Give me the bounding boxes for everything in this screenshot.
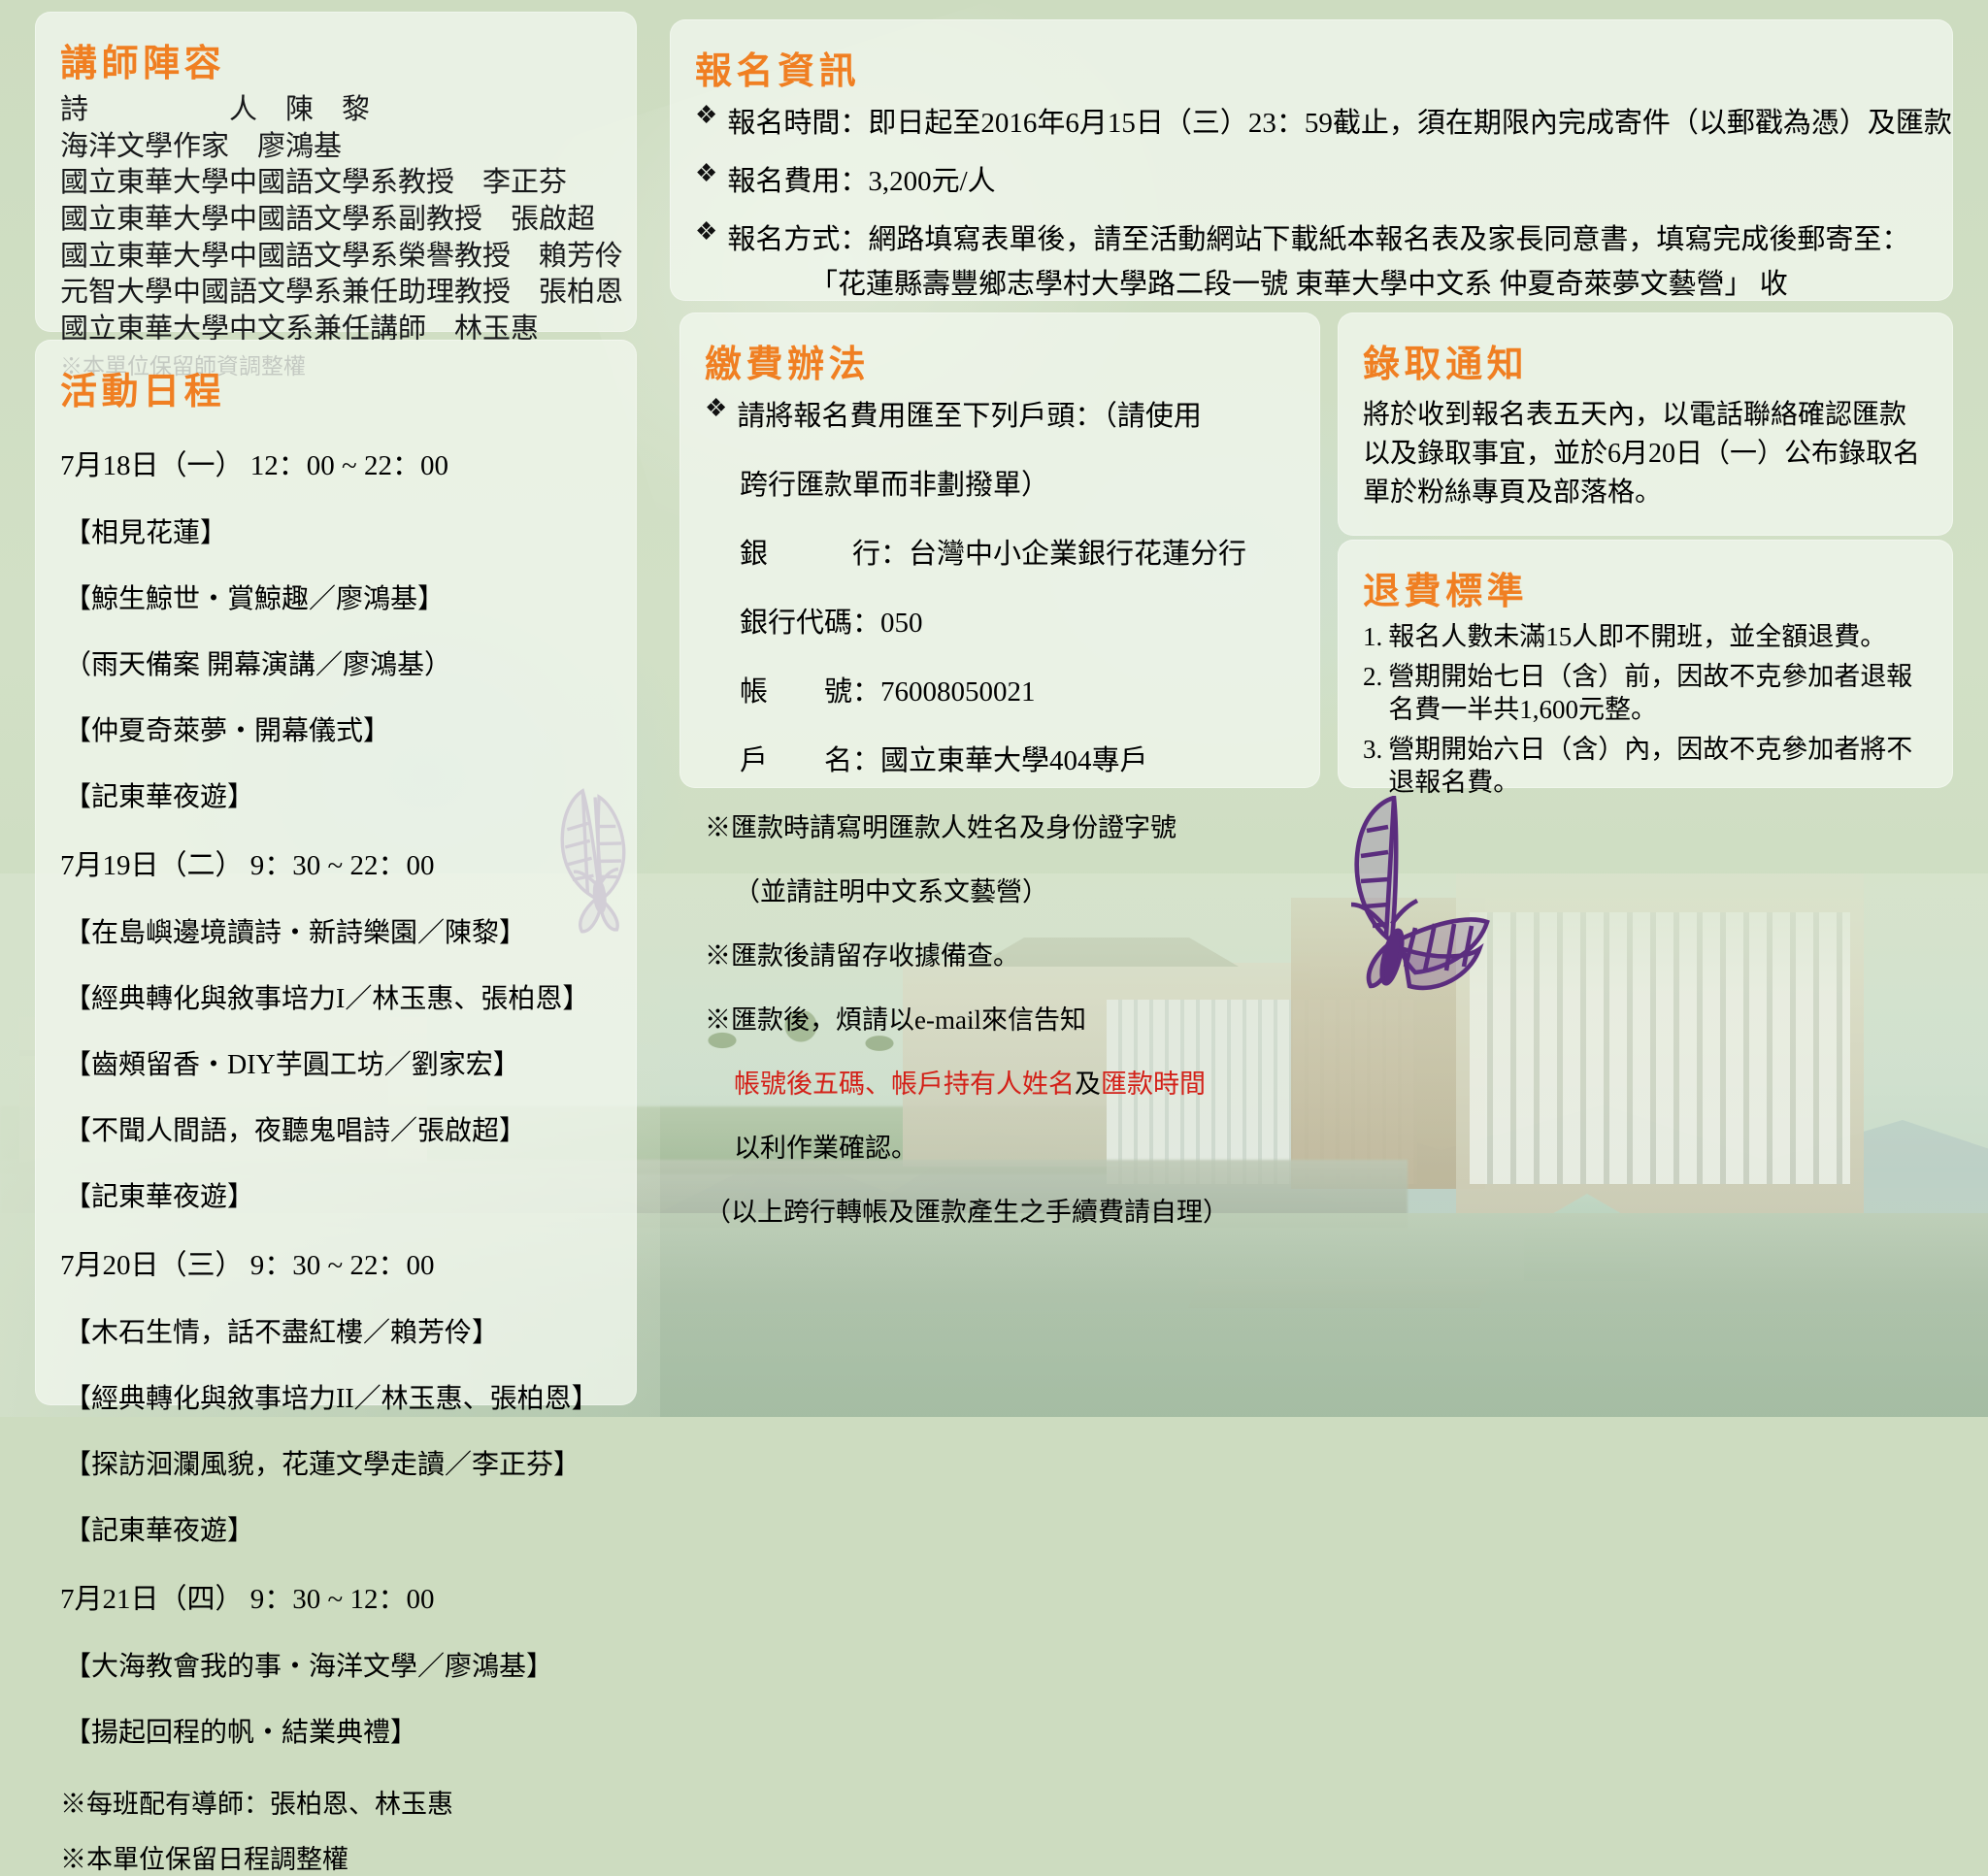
speakers-heading: 講師陣容 bbox=[60, 33, 612, 86]
refund-item-number: 1. bbox=[1363, 620, 1382, 654]
payment-highlight-a: 帳號後五碼、帳戶持有人姓名 bbox=[734, 1070, 1075, 1099]
admission-notice-line: 單於粉絲專頁及部落格。 bbox=[1363, 471, 1928, 510]
admission-notice-line: 以及錄取事宜，並於6月20日（一）公布錄取名 bbox=[1363, 432, 1928, 471]
speaker-row: 詩 人 陳 黎 bbox=[60, 92, 612, 129]
payment-intro-line-2: 跨行匯款單而非劃撥單） bbox=[705, 462, 1295, 503]
payment-note: ※匯款時請寫明匯款人姓名及身份證字號 bbox=[705, 806, 1295, 844]
payment-note: ※匯款後，煩請以e-mail來信告知 bbox=[705, 999, 1295, 1037]
payment-heading: 繳費辦法 bbox=[705, 334, 1295, 387]
schedule-heading: 活動日程 bbox=[60, 361, 612, 414]
refund-policy-item: 2.營期開始七日（含）前，因故不克參加者退報名費一半共1,600元整。 bbox=[1363, 660, 1928, 727]
registration-item: ❖ 報名方式：網路填寫表單後，請至活動網站下載紙本報名表及家長同意書，填寫完成後… bbox=[695, 216, 1928, 257]
payment-account-number: 帳 號：76008050021 bbox=[705, 669, 1295, 709]
schedule-item: 【鯨生鯨世‧賞鯨趣／廖鴻基】 bbox=[60, 577, 612, 616]
payment-bank-code: 銀行代碼：050 bbox=[705, 600, 1295, 641]
payment-highlight-c: 匯款時間 bbox=[1101, 1070, 1206, 1099]
refund-item-text: 報名人數未滿15人即不開班，並全額退費。 bbox=[1388, 620, 1928, 654]
registration-item: ❖ 報名費用：3,200元/人 bbox=[695, 158, 1928, 199]
registration-mail-address: 「花蓮縣壽豐鄉志學村大學路二段一號 東華大學中文系 仲夏奇萊夢文藝營」 收 bbox=[695, 261, 1928, 302]
admission-notice-heading: 錄取通知 bbox=[1363, 334, 1928, 387]
payment-note: （並請註明中文系文藝營） bbox=[705, 871, 1295, 908]
refund-policy-heading: 退費標準 bbox=[1363, 561, 1928, 614]
speaker-row: 國立東華大學中國語文學系榮譽教授 賴芳伶 bbox=[60, 239, 612, 276]
schedule-item: 【記東華夜遊】 bbox=[60, 1175, 612, 1214]
refund-policy-item: 3.營期開始六日（含）內，因故不克參加者將不退報名費。 bbox=[1363, 733, 1928, 800]
schedule-day-datetime: 7月21日（四） 9：30 ~ 12：00 bbox=[60, 1576, 612, 1617]
schedule-day-time: 9：30 ~ 22：00 bbox=[250, 850, 435, 881]
schedule-item: 【記東華夜遊】 bbox=[60, 775, 612, 814]
schedule-note: ※每班配有導師：張柏恩、林玉惠 bbox=[60, 1783, 612, 1821]
refund-item-number: 2. bbox=[1363, 660, 1382, 727]
schedule-notes: ※每班配有導師：張柏恩、林玉惠 ※本單位保留日程調整權 bbox=[60, 1783, 612, 1876]
registration-item-text: 報名方式：網路填寫表單後，請至活動網站下載紙本報名表及家長同意書，填寫完成後郵寄… bbox=[727, 216, 1909, 257]
schedule-day: 7月19日（二） 9：30 ~ 22：00 【在島嶼邊境讀詩‧新詩樂園／陳黎】 … bbox=[60, 842, 612, 1214]
payment-note-after: 以利作業確認。 bbox=[705, 1127, 1295, 1165]
payment-note: ※匯款後請留存收據備查。 bbox=[705, 935, 1295, 972]
payment-highlight-join: 及 bbox=[1075, 1070, 1101, 1099]
refund-policy-panel: 退費標準 1.報名人數未滿15人即不開班，並全額退費。 2.營期開始七日（含）前… bbox=[1338, 540, 1953, 788]
admission-notice-panel: 錄取通知 將於收到報名表五天內，以電話聯絡確認匯款 以及錄取事宜，並於6月20日… bbox=[1338, 313, 1953, 536]
schedule-day: 7月20日（三） 9：30 ~ 22：00 【木石生情，話不盡紅樓／賴芳伶】 【… bbox=[60, 1242, 612, 1548]
schedule-day-datetime: 7月19日（二） 9：30 ~ 22：00 bbox=[60, 842, 612, 883]
registration-panel: 報名資訊 ❖ 報名時間：即日起至2016年6月15日（三）23：59截止，須在期… bbox=[670, 19, 1953, 301]
registration-item-text: 報名時間：即日起至2016年6月15日（三）23：59截止，須在期限內完成寄件（… bbox=[727, 100, 1952, 141]
registration-item-text: 報名費用：3,200元/人 bbox=[727, 158, 995, 199]
schedule-day-date: 7月18日（一） bbox=[60, 450, 244, 481]
butterfly-icon bbox=[1309, 796, 1503, 1019]
schedule-panel: 活動日程 7月18日（一） 12：00 ~ 22：00 【相見花蓮】 【鯨生鯨世… bbox=[35, 340, 637, 1405]
payment-intro: ❖ 請將報名費用匯至下列戶頭：（請使用 bbox=[705, 393, 1295, 434]
schedule-item: （雨天備案 開幕演講／廖鴻基） bbox=[60, 643, 612, 682]
diamond-bullet-icon: ❖ bbox=[695, 100, 717, 132]
schedule-note: ※本單位保留日程調整權 bbox=[60, 1838, 612, 1876]
schedule-item: 【相見花蓮】 bbox=[60, 511, 612, 550]
schedule-day-time: 9：30 ~ 12：00 bbox=[250, 1584, 435, 1615]
refund-policy-item: 1.報名人數未滿15人即不開班，並全額退費。 bbox=[1363, 620, 1928, 654]
schedule-day-date: 7月20日（三） bbox=[60, 1250, 244, 1281]
schedule-item: 【大海教會我的事‧海洋文學／廖鴻基】 bbox=[60, 1645, 612, 1684]
payment-bank-name: 銀 行：台灣中小企業銀行花蓮分行 bbox=[705, 531, 1295, 572]
schedule-day-time: 9：30 ~ 22：00 bbox=[250, 1250, 435, 1281]
schedule-day-date: 7月19日（二） bbox=[60, 850, 244, 881]
schedule-item: 【記東華夜遊】 bbox=[60, 1509, 612, 1548]
diamond-bullet-icon: ❖ bbox=[695, 216, 717, 248]
speakers-list: 詩 人 陳 黎 海洋文學作家 廖鴻基 國立東華大學中國語文學系教授 李正芬 國立… bbox=[60, 92, 612, 381]
schedule-day: 7月21日（四） 9：30 ~ 12：00 【大海教會我的事‧海洋文學／廖鴻基】… bbox=[60, 1576, 612, 1750]
schedule-item: 【齒頰留香‧DIY芋圓工坊／劉家宏】 bbox=[60, 1043, 612, 1082]
schedule-item: 【探訪洄瀾風貌，花蓮文學走讀／李正芬】 bbox=[60, 1443, 612, 1482]
speaker-row: 國立東華大學中國語文學系副教授 張啟超 bbox=[60, 202, 612, 239]
payment-note-highlight: 帳號後五碼、帳戶持有人姓名及匯款時間 bbox=[705, 1063, 1295, 1101]
schedule-day-time: 12：00 ~ 22：00 bbox=[250, 450, 448, 481]
refund-item-text: 營期開始七日（含）前，因故不克參加者退報名費一半共1,600元整。 bbox=[1388, 660, 1928, 727]
speakers-panel: 講師陣容 詩 人 陳 黎 海洋文學作家 廖鴻基 國立東華大學中國語文學系教授 李… bbox=[35, 12, 637, 332]
schedule-item: 【在島嶼邊境讀詩‧新詩樂園／陳黎】 bbox=[60, 911, 612, 950]
schedule-item: 【仲夏奇萊夢‧開幕儀式】 bbox=[60, 709, 612, 748]
schedule-item: 【不聞人間語，夜聽鬼唱詩／張啟超】 bbox=[60, 1109, 612, 1148]
registration-item: ❖ 報名時間：即日起至2016年6月15日（三）23：59截止，須在期限內完成寄… bbox=[695, 100, 1928, 141]
diamond-bullet-icon: ❖ bbox=[695, 158, 717, 190]
schedule-day: 7月18日（一） 12：00 ~ 22：00 【相見花蓮】 【鯨生鯨世‧賞鯨趣／… bbox=[60, 443, 612, 814]
schedule-item: 【經典轉化與敘事培力I／林玉惠、張柏恩】 bbox=[60, 977, 612, 1016]
diamond-bullet-icon: ❖ bbox=[705, 393, 727, 425]
payment-panel: 繳費辦法 ❖ 請將報名費用匯至下列戶頭：（請使用 跨行匯款單而非劃撥單） 銀 行… bbox=[679, 313, 1320, 788]
refund-item-number: 3. bbox=[1363, 733, 1382, 800]
schedule-item: 【經典轉化與敘事培力II／林玉惠、張柏恩】 bbox=[60, 1377, 612, 1416]
refund-policy-list: 1.報名人數未滿15人即不開班，並全額退費。 2.營期開始七日（含）前，因故不克… bbox=[1363, 620, 1928, 800]
schedule-day-date: 7月21日（四） bbox=[60, 1584, 244, 1615]
speaker-row: 海洋文學作家 廖鴻基 bbox=[60, 129, 612, 166]
schedule-item: 【木石生情，話不盡紅樓／賴芳伶】 bbox=[60, 1311, 612, 1350]
speaker-row: 元智大學中國語文學系兼任助理教授 張柏恩 bbox=[60, 275, 612, 312]
schedule-day-datetime: 7月20日（三） 9：30 ~ 22：00 bbox=[60, 1242, 612, 1283]
payment-footnote: （以上跨行轉帳及匯款產生之手續費請自理） bbox=[705, 1191, 1295, 1229]
schedule-day-datetime: 7月18日（一） 12：00 ~ 22：00 bbox=[60, 443, 612, 483]
schedule-item: 【揚起回程的帆‧結業典禮】 bbox=[60, 1711, 612, 1750]
payment-account-name: 戶 名：國立東華大學404專戶 bbox=[705, 738, 1295, 778]
speaker-row: 國立東華大學中國語文學系教授 李正芬 bbox=[60, 165, 612, 202]
payment-intro-line-1: 請將報名費用匯至下列戶頭：（請使用 bbox=[737, 393, 1202, 434]
admission-notice-line: 將於收到報名表五天內，以電話聯絡確認匯款 bbox=[1363, 393, 1928, 432]
registration-heading: 報名資訊 bbox=[695, 41, 1928, 94]
refund-item-text: 營期開始六日（含）內，因故不克參加者將不退報名費。 bbox=[1388, 733, 1928, 800]
